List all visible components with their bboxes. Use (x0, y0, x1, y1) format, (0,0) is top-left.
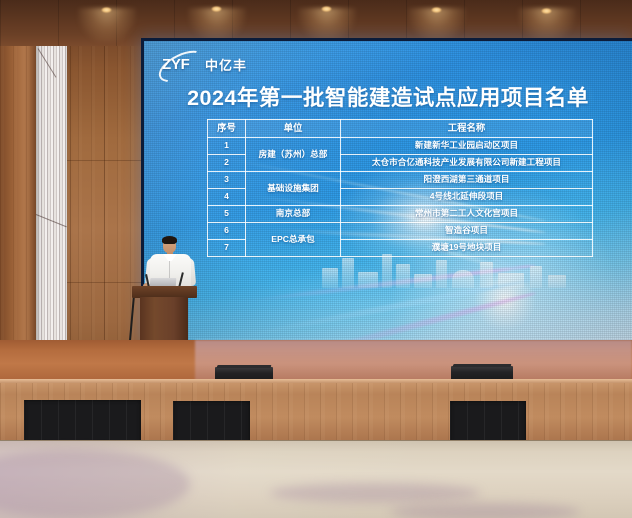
conference-hall-room: ZYF 中亿丰 2024年第一批智能建造试点应用项目名单 序号 单位 工程名称 (0, 0, 632, 518)
cell-no: 6 (208, 223, 246, 240)
logo-mark-text: ZYF (162, 56, 200, 73)
wood-grain-texture (0, 0, 37, 376)
downlight-glow (78, 8, 136, 42)
ceiling-downlight (541, 8, 552, 14)
cell-unit: 基础设施集团 (246, 172, 341, 206)
cell-name: 新建新华工业园启动区项目 (341, 138, 593, 155)
glasses-icon (164, 243, 175, 247)
table-row: 1 房建（苏州）总部 新建新华工业园启动区项目 (208, 138, 593, 155)
screenshot-root: ZYF 中亿丰 2024年第一批智能建造试点应用项目名单 序号 单位 工程名称 (0, 0, 632, 518)
cell-no: 2 (208, 155, 246, 172)
cell-no: 3 (208, 172, 246, 189)
left-wood-pillar (0, 0, 37, 376)
cell-unit: 房建（苏州）总部 (246, 138, 341, 172)
cell-unit: 南京总部 (246, 206, 341, 223)
table-row: 6 EPC总承包 智造谷项目 (208, 223, 593, 240)
project-list-table: 序号 单位 工程名称 1 房建（苏州）总部 新建新华工业园启动区项目 2 太仓市… (207, 119, 593, 257)
led-screen-display: ZYF 中亿丰 2024年第一批智能建造试点应用项目名单 序号 单位 工程名称 (144, 41, 632, 342)
cell-no: 5 (208, 206, 246, 223)
cell-no: 7 (208, 240, 246, 257)
wall-seam (104, 20, 105, 372)
company-logo: ZYF 中亿丰 (162, 55, 247, 74)
ceiling-downlight (431, 7, 442, 13)
acoustic-panel (173, 401, 250, 445)
floor-sheen (0, 441, 632, 518)
cell-name: 智造谷项目 (341, 223, 593, 240)
acoustic-panel (450, 401, 526, 445)
col-header-no: 序号 (208, 120, 246, 138)
col-header-unit: 单位 (246, 120, 341, 138)
acoustic-panel (24, 400, 141, 445)
logo-chinese-name: 中亿丰 (205, 55, 247, 74)
table-row: 3 基础设施集团 阳澄西湖第三通道项目 (208, 172, 593, 189)
swoosh-icon: ZYF (162, 56, 200, 73)
wall-seam (70, 20, 71, 372)
downlight-glow (408, 8, 466, 42)
cell-no: 4 (208, 189, 246, 206)
cell-name: 4号线北延伸段项目 (341, 189, 593, 206)
table-header-row: 序号 单位 工程名称 (208, 120, 593, 138)
ceiling-downlight (211, 6, 222, 12)
downlight-glow (298, 8, 356, 42)
cell-name: 常州市第二工人文化宫项目 (341, 206, 593, 223)
cell-name: 濮塘19号地块项目 (341, 240, 593, 257)
downlight-glow (188, 8, 246, 42)
left-slat-curtain (36, 18, 67, 373)
table-row: 5 南京总部 常州市第二工人文化宫项目 (208, 206, 593, 223)
col-header-name: 工程名称 (341, 120, 593, 138)
ceiling-downlight (101, 7, 112, 13)
ceiling-downlight (321, 6, 332, 12)
cell-name: 太仓市合亿通科技产业发展有限公司新建工程项目 (341, 155, 593, 172)
cell-no: 1 (208, 138, 246, 155)
cell-unit: EPC总承包 (246, 223, 341, 257)
slide-title: 2024年第一批智能建造试点应用项目名单 (144, 81, 632, 112)
cell-name: 阳澄西湖第三通道项目 (341, 172, 593, 189)
